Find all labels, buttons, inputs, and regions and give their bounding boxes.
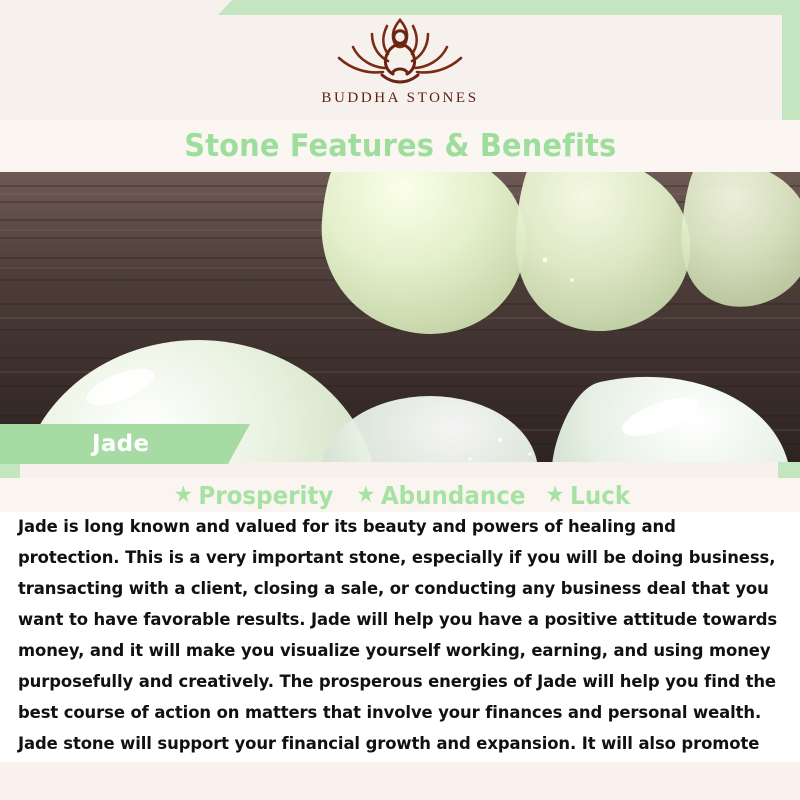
benefit-label: Abundance bbox=[381, 481, 526, 510]
benefit-label: Luck bbox=[570, 481, 630, 510]
bottom-strip bbox=[0, 762, 800, 800]
description-text: Jade is long known and valued for its be… bbox=[18, 512, 779, 800]
benefit-item-0: ★ Prosperity bbox=[173, 481, 332, 510]
description-block: Jade is long known and valued for its be… bbox=[0, 512, 800, 762]
benefit-item-1: ★ Abundance bbox=[356, 481, 525, 510]
title-band: Stone Features & Benefits bbox=[0, 120, 800, 172]
brand-name: BUDDHA STONES bbox=[321, 90, 478, 107]
star-icon: ★ bbox=[173, 484, 192, 507]
stone-benefits-poster: BUDDHA STONES Stone Features & Benefits bbox=[0, 0, 800, 800]
brand-header: BUDDHA STONES bbox=[0, 0, 800, 120]
stone-name-label: Jade bbox=[92, 431, 149, 457]
stone-name-tag: Jade bbox=[0, 424, 250, 464]
lotus-meditation-icon bbox=[325, 14, 475, 86]
page-title: Stone Features & Benefits bbox=[184, 128, 616, 164]
benefit-item-2: ★ Luck bbox=[545, 481, 629, 510]
benefits-row: ★ Prosperity ★ Abundance ★ Luck bbox=[0, 478, 800, 512]
star-icon: ★ bbox=[356, 484, 375, 507]
benefit-label: Prosperity bbox=[198, 481, 333, 510]
stone-photo bbox=[0, 172, 800, 462]
star-icon: ★ bbox=[545, 484, 564, 507]
